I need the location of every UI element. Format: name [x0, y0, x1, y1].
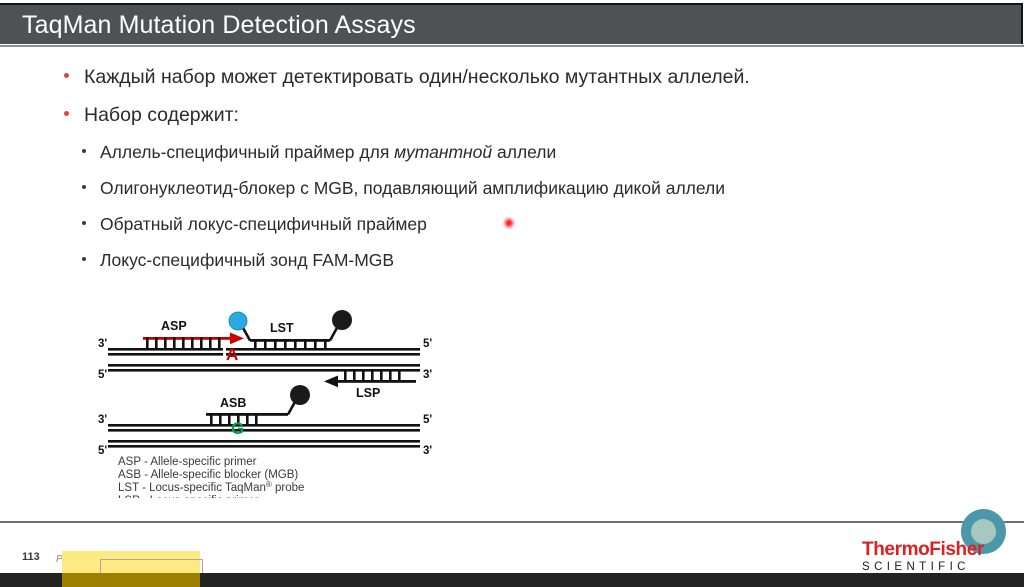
bullet-marker-icon — [64, 73, 69, 78]
asp-label: ASP — [161, 319, 187, 333]
end-label-5prime: 5' — [98, 369, 107, 381]
asb-label: ASB — [220, 396, 246, 410]
lsp-label: LSP — [356, 386, 380, 400]
end-label-5prime: 5' — [423, 414, 432, 426]
end-label-3prime: 3' — [98, 338, 107, 350]
thermofisher-logo: ThermoFisher SCIENTIFIC — [862, 540, 982, 574]
footer-divider — [0, 521, 1024, 523]
slide-title-bar: TaqMan Mutation Detection Assays — [0, 3, 1023, 44]
bullet-marker-icon — [82, 221, 86, 225]
os-taskbar-highlight[interactable] — [62, 573, 200, 587]
bullet-level1-text-0: Каждый набор может детектировать один/не… — [84, 66, 750, 88]
end-label-3prime: 3' — [98, 414, 107, 426]
end-label-3prime: 3' — [423, 369, 432, 381]
bullet-level1-text-1: Набор содержит: — [84, 104, 239, 126]
slide-body: Каждый набор может детектировать один/не… — [56, 64, 966, 284]
bottom-strand-upper — [108, 424, 420, 432]
legend-item-lsp: LSP - Locus-specific primer — [118, 495, 259, 498]
lst-label: LST — [270, 321, 294, 335]
assay-schematic-diagram: ASP A — [98, 308, 438, 498]
bullet-level2-text-1: Олигонуклеотид-блокер с MGB, подавляющий… — [100, 178, 725, 198]
logo-thermo: Thermo — [862, 539, 929, 560]
reporter-dye-icon — [229, 312, 247, 330]
bullet-marker-icon — [82, 149, 86, 153]
legend-item-lst: LST - Locus-specific TaqMan® probe — [118, 480, 304, 495]
presentation-slide: TaqMan Mutation Detection Assays Каждый … — [0, 0, 1024, 587]
end-label-3prime: 3' — [423, 445, 432, 457]
thermofisher-tagline: SCIENTIFIC — [862, 560, 982, 574]
bullet-level1: Набор содержит: — [56, 102, 966, 128]
bullet-level2-text-0a: Аллель-специфичный праймер для — [100, 142, 394, 162]
bullet-level2: Обратный локус-специфичный праймер — [56, 212, 966, 236]
legend-item-asp: ASP - Allele-specific primer — [118, 456, 257, 468]
mgb-moiety-icon — [290, 385, 310, 405]
quencher-icon — [332, 310, 352, 330]
bullet-marker-icon — [82, 257, 86, 261]
thermofisher-wordmark: ThermoFisher — [862, 540, 982, 559]
bullet-marker-icon — [64, 111, 69, 116]
bullet-level2-text-3: Локус-специфичный зонд FAM-MGB — [100, 250, 394, 270]
bullet-level2: Локус-специфичный зонд FAM-MGB — [56, 248, 966, 272]
page-title: TaqMan Mutation Detection Assays — [22, 11, 416, 40]
bullet-level2: Олигонуклеотид-блокер с MGB, подавляющий… — [56, 176, 966, 200]
end-label-5prime: 5' — [98, 445, 107, 457]
bullet-level2-text-0b: аллели — [492, 142, 556, 162]
diagram-legend: ASP - Allele-specific primer ASB - Allel… — [118, 456, 304, 498]
bullet-level2-emphasis-0: мутантной — [394, 142, 492, 162]
lsp-primer — [324, 370, 416, 387]
bullet-level1: Каждый набор может детектировать один/не… — [56, 64, 966, 90]
logo-fisher: Fisher — [929, 539, 984, 560]
asb-base-g: G — [231, 419, 244, 438]
end-label-5prime: 5' — [423, 338, 432, 350]
bullet-marker-icon — [82, 185, 86, 189]
slide-number: 113 — [22, 551, 40, 563]
bullet-level2-text-2: Обратный локус-специфичный праймер — [100, 214, 427, 234]
bottom-strand-lower — [108, 440, 420, 448]
bullet-level2: Аллель-специфичный праймер для мутантной… — [56, 140, 966, 164]
asp-base-a: A — [226, 345, 238, 364]
title-divider — [0, 45, 1024, 47]
